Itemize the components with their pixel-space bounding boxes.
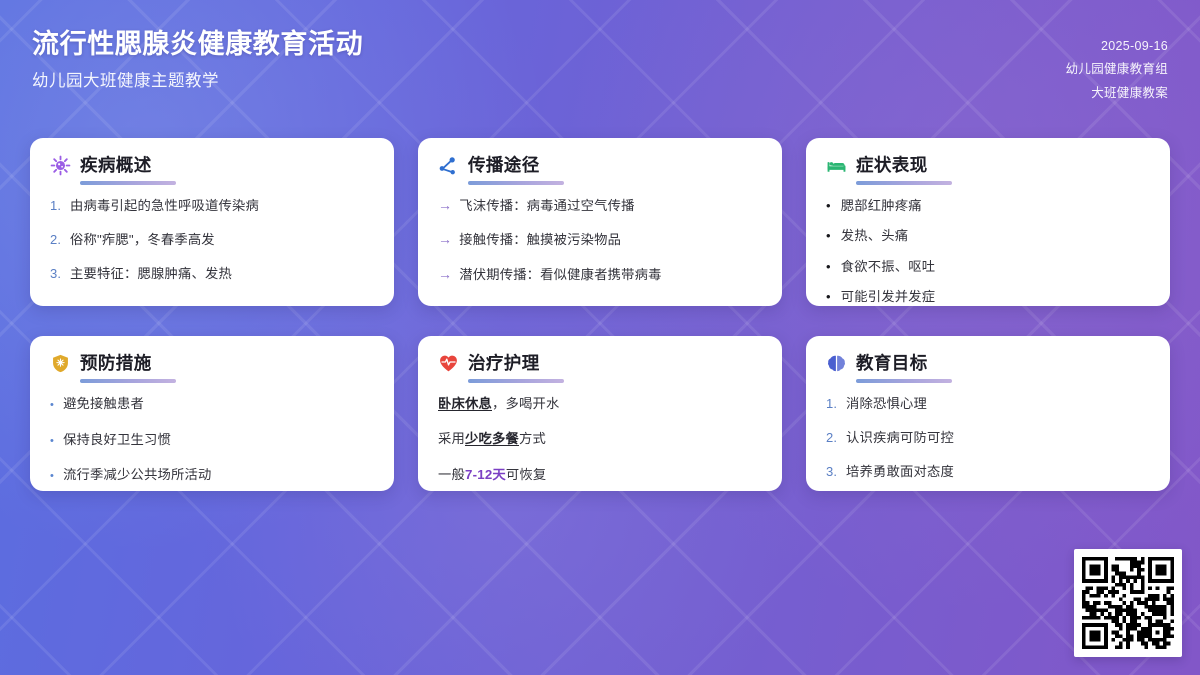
card-title: 预防措施 xyxy=(80,353,152,374)
list-item: •腮部红肿疼痛 xyxy=(826,196,1150,215)
card-title: 传播途径 xyxy=(468,155,540,176)
list-item: •保持良好卫生习惯 xyxy=(50,430,374,450)
list-item-text-part: 一般 xyxy=(438,467,465,482)
card-header: 疾病概述 xyxy=(50,155,374,185)
card-body: →飞沫传播：病毒通过空气传播→接触传播：触摸被污染物品→潜伏期传播：看似健康者携… xyxy=(438,196,762,284)
list-item: 1.由病毒引起的急性呼吸道传染病 xyxy=(50,196,374,216)
content-card-treatment-care: 治疗护理卧床休息，多喝开水采用少吃多餐方式一般7-12天可恢复 xyxy=(418,336,782,491)
meta-date: 2025-09-16 xyxy=(1101,37,1168,56)
slide-header: 流行性腮腺炎健康教育活动 幼儿园大班健康主题教学 2025-09-16 幼儿园健… xyxy=(0,0,1200,122)
list-item-marker: • xyxy=(826,289,831,306)
list-item: 3.主要特征：腮腺肿痛、发热 xyxy=(50,264,374,284)
list-item-text: 俗称"痄腮"，冬春季高发 xyxy=(70,230,215,249)
list-item: •食欲不振、呕吐 xyxy=(826,257,1150,276)
list-item-text-part: 少吃多餐 xyxy=(465,431,519,446)
list-item-marker: → xyxy=(438,265,452,283)
list-item-marker: 1. xyxy=(50,197,65,216)
page-subtitle: 幼儿园大班健康主题教学 xyxy=(32,71,363,92)
list-item: 2.俗称"痄腮"，冬春季高发 xyxy=(50,230,374,250)
content-card-disease-overview: 疾病概述1.由病毒引起的急性呼吸道传染病2.俗称"痄腮"，冬春季高发3.主要特征… xyxy=(30,138,394,306)
content-card-prevention: 预防措施•避免接触患者•保持良好卫生习惯•流行季减少公共场所活动 xyxy=(30,336,394,491)
content-card-grid: 疾病概述1.由病毒引起的急性呼吸道传染病2.俗称"痄腮"，冬春季高发3.主要特征… xyxy=(30,138,1170,491)
list-item: →接触传播：触摸被污染物品 xyxy=(438,230,762,249)
list-item-text: 避免接触患者 xyxy=(63,394,144,413)
list-item-text: 食欲不振、呕吐 xyxy=(841,257,935,276)
card-body: •避免接触患者•保持良好卫生习惯•流行季减少公共场所活动 xyxy=(50,394,374,485)
share-nodes-icon xyxy=(438,155,459,176)
list-item-marker: → xyxy=(438,196,452,214)
header-meta-group: 2025-09-16 幼儿园健康教育组 大班健康教案 xyxy=(1066,28,1168,103)
card-title-row: 传播途径 xyxy=(438,155,762,176)
card-header: 预防措施 xyxy=(50,353,374,383)
list-item-text: 流行季减少公共场所活动 xyxy=(63,465,211,484)
card-title: 症状表现 xyxy=(856,155,928,176)
list-item-text: 潜伏期传播：看似健康者携带病毒 xyxy=(459,265,661,284)
list-item-marker: • xyxy=(826,228,831,245)
card-title-row: 疾病概述 xyxy=(50,155,374,176)
list-item: 2.认识疾病可防可控 xyxy=(826,428,1150,448)
list-item-text-part: 卧床休息 xyxy=(438,396,492,411)
list-item-text-part: ，多喝开水 xyxy=(492,396,559,411)
card-title-row: 治疗护理 xyxy=(438,353,762,374)
list-item-marker: • xyxy=(50,397,54,414)
list-item: 1.消除恐惧心理 xyxy=(826,394,1150,414)
list-item-marker: 2. xyxy=(50,231,65,250)
list-item-text-part: 可恢复 xyxy=(506,467,547,482)
list-item: 卧床休息，多喝开水 xyxy=(438,394,762,413)
slide-root: 流行性腮腺炎健康教育活动 幼儿园大班健康主题教学 2025-09-16 幼儿园健… xyxy=(0,0,1200,675)
card-header: 治疗护理 xyxy=(438,353,762,383)
card-header: 教育目标 xyxy=(826,353,1150,383)
list-item-marker: • xyxy=(50,433,54,450)
list-item: 一般7-12天可恢复 xyxy=(438,465,762,484)
card-title: 治疗护理 xyxy=(468,353,540,374)
card-title-row: 预防措施 xyxy=(50,353,374,374)
list-item: •可能引发并发症 xyxy=(826,287,1150,306)
header-title-group: 流行性腮腺炎健康教育活动 幼儿园大班健康主题教学 xyxy=(32,28,363,92)
content-card-transmission-routes: 传播途径→飞沫传播：病毒通过空气传播→接触传播：触摸被污染物品→潜伏期传播：看似… xyxy=(418,138,782,306)
content-card-symptoms: 症状表现•腮部红肿疼痛•发热、头痛•食欲不振、呕吐•可能引发并发症 xyxy=(806,138,1170,306)
meta-document-type: 大班健康教案 xyxy=(1091,84,1168,103)
card-header: 症状表现 xyxy=(826,155,1150,185)
card-title-accent-bar xyxy=(856,181,952,185)
list-item-text: 保持良好卫生习惯 xyxy=(63,430,171,449)
list-item-marker: 3. xyxy=(826,463,841,482)
list-item: →潜伏期传播：看似健康者携带病毒 xyxy=(438,265,762,284)
card-title-row: 症状表现 xyxy=(826,155,1150,176)
list-item-text-part: 7-12天 xyxy=(465,467,506,482)
list-item: •流行季减少公共场所活动 xyxy=(50,465,374,485)
list-item-marker: 1. xyxy=(826,395,841,414)
shield-icon xyxy=(50,353,71,374)
meta-organization: 幼儿园健康教育组 xyxy=(1066,60,1168,79)
list-item-marker: • xyxy=(826,198,831,215)
virus-icon xyxy=(50,155,71,176)
card-title-accent-bar xyxy=(80,181,176,185)
card-header: 传播途径 xyxy=(438,155,762,185)
page-title: 流行性腮腺炎健康教育活动 xyxy=(32,28,363,62)
list-item-text: 由病毒引起的急性呼吸道传染病 xyxy=(70,196,259,215)
content-card-education-goals: 教育目标1.消除恐惧心理2.认识疾病可防可控3.培养勇敢面对态度 xyxy=(806,336,1170,491)
list-item-text: 接触传播：触摸被污染物品 xyxy=(459,230,621,249)
list-item: •发热、头痛 xyxy=(826,226,1150,245)
list-item-marker: → xyxy=(438,230,452,248)
list-item-text: 腮部红肿疼痛 xyxy=(841,196,922,215)
hospital-bed-icon xyxy=(826,155,847,176)
qr-code-image xyxy=(1082,557,1174,649)
list-item: •避免接触患者 xyxy=(50,394,374,414)
card-body: 1.由病毒引起的急性呼吸道传染病2.俗称"痄腮"，冬春季高发3.主要特征：腮腺肿… xyxy=(50,196,374,284)
list-item-marker: 3. xyxy=(50,265,65,284)
list-item-text-part: 方式 xyxy=(519,431,546,446)
list-item-text: 认识疾病可防可控 xyxy=(846,428,954,447)
list-item-text-part: 采用 xyxy=(438,431,465,446)
list-item-text: 发热、头痛 xyxy=(841,226,908,245)
card-title-accent-bar xyxy=(856,379,952,383)
list-item-marker: • xyxy=(50,468,54,485)
list-item-text: 主要特征：腮腺肿痛、发热 xyxy=(70,264,232,283)
card-title: 疾病概述 xyxy=(80,155,152,176)
card-body: 1.消除恐惧心理2.认识疾病可防可控3.培养勇敢面对态度 xyxy=(826,394,1150,482)
list-item-marker: 2. xyxy=(826,429,841,448)
list-item-text: 培养勇敢面对态度 xyxy=(846,462,954,481)
card-title-accent-bar xyxy=(468,379,564,383)
card-title-accent-bar xyxy=(80,379,176,383)
card-body: •腮部红肿疼痛•发热、头痛•食欲不振、呕吐•可能引发并发症 xyxy=(826,196,1150,306)
card-title-row: 教育目标 xyxy=(826,353,1150,374)
card-title-accent-bar xyxy=(468,181,564,185)
brain-icon xyxy=(826,353,847,374)
card-body: 卧床休息，多喝开水采用少吃多餐方式一般7-12天可恢复 xyxy=(438,394,762,484)
list-item: →飞沫传播：病毒通过空气传播 xyxy=(438,196,762,215)
qr-code-panel[interactable] xyxy=(1074,549,1182,657)
heartbeat-icon xyxy=(438,353,459,374)
list-item-text: 可能引发并发症 xyxy=(841,287,935,306)
card-title: 教育目标 xyxy=(856,353,928,374)
list-item: 采用少吃多餐方式 xyxy=(438,429,762,448)
list-item: 3.培养勇敢面对态度 xyxy=(826,462,1150,482)
list-item-marker: • xyxy=(826,259,831,276)
list-item-text: 消除恐惧心理 xyxy=(846,394,927,413)
list-item-text: 飞沫传播：病毒通过空气传播 xyxy=(459,196,634,215)
